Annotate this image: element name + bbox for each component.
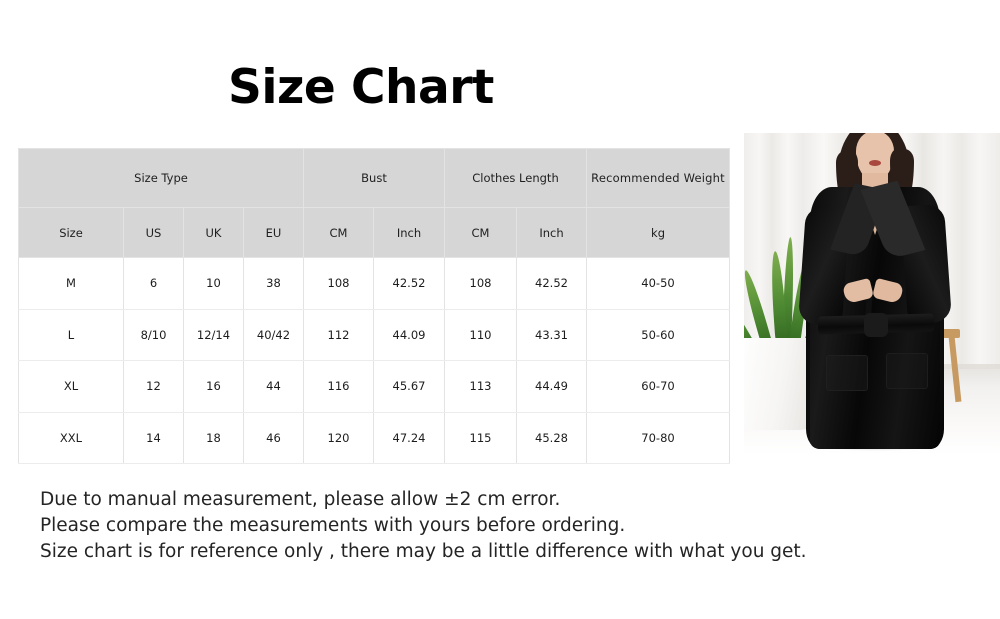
cell-weight-kg: 50-60 xyxy=(587,309,730,361)
size-chart-page: Size Chart Size Type Bust Clothes Length… xyxy=(0,0,1000,619)
col-header-length-inch: Inch xyxy=(517,208,587,258)
measurement-notes: Due to manual measurement, please allow … xyxy=(40,487,807,565)
col-header-length-cm: CM xyxy=(445,208,517,258)
unit-header-row: Size US UK EU CM Inch CM Inch kg xyxy=(19,208,730,258)
cell-us: 8/10 xyxy=(124,309,184,361)
cell-us: 14 xyxy=(124,412,184,464)
cell-size: L xyxy=(19,309,124,361)
cell-weight-kg: 70-80 xyxy=(587,412,730,464)
cell-length-cm: 110 xyxy=(445,309,517,361)
group-header-clothes-length: Clothes Length xyxy=(445,149,587,208)
robe-pocket-right xyxy=(886,353,928,389)
cell-weight-kg: 40-50 xyxy=(587,258,730,310)
cell-uk: 16 xyxy=(184,361,244,413)
group-header-recommended-weight: Recommended Weight xyxy=(587,149,730,208)
cell-bust-inch: 45.67 xyxy=(374,361,445,413)
product-photo xyxy=(744,133,1000,455)
cell-length-inch: 42.52 xyxy=(517,258,587,310)
group-header-bust: Bust xyxy=(304,149,445,208)
table-row: M 6 10 38 108 42.52 108 42.52 40-50 xyxy=(19,258,730,310)
col-header-weight-kg: kg xyxy=(587,208,730,258)
cell-uk: 12/14 xyxy=(184,309,244,361)
model-lips xyxy=(869,160,881,166)
cell-bust-cm: 112 xyxy=(304,309,374,361)
cell-length-cm: 115 xyxy=(445,412,517,464)
note-line-2: Please compare the measurements with you… xyxy=(40,513,807,539)
cell-size: XXL xyxy=(19,412,124,464)
table-row: XXL 14 18 46 120 47.24 115 45.28 70-80 xyxy=(19,412,730,464)
cell-bust-inch: 44.09 xyxy=(374,309,445,361)
cell-weight-kg: 60-70 xyxy=(587,361,730,413)
cell-uk: 18 xyxy=(184,412,244,464)
cell-us: 12 xyxy=(124,361,184,413)
cell-us: 6 xyxy=(124,258,184,310)
col-header-size: Size xyxy=(19,208,124,258)
cell-bust-cm: 120 xyxy=(304,412,374,464)
group-header-row: Size Type Bust Clothes Length Recommende… xyxy=(19,149,730,208)
col-header-us: US xyxy=(124,208,184,258)
cell-uk: 10 xyxy=(184,258,244,310)
note-line-1: Due to manual measurement, please allow … xyxy=(40,487,807,513)
cell-bust-inch: 42.52 xyxy=(374,258,445,310)
cell-length-cm: 108 xyxy=(445,258,517,310)
page-title: Size Chart xyxy=(228,64,494,111)
cell-length-inch: 43.31 xyxy=(517,309,587,361)
cell-eu: 46 xyxy=(244,412,304,464)
group-header-size-type: Size Type xyxy=(19,149,304,208)
note-line-3: Size chart is for reference only , there… xyxy=(40,539,807,565)
cell-length-inch: 44.49 xyxy=(517,361,587,413)
cell-bust-cm: 108 xyxy=(304,258,374,310)
cell-size: XL xyxy=(19,361,124,413)
col-header-uk: UK xyxy=(184,208,244,258)
col-header-bust-inch: Inch xyxy=(374,208,445,258)
robe-belt-knot xyxy=(864,313,888,337)
col-header-eu: EU xyxy=(244,208,304,258)
table-head: Size Type Bust Clothes Length Recommende… xyxy=(19,149,730,258)
cell-eu: 38 xyxy=(244,258,304,310)
cell-eu: 44 xyxy=(244,361,304,413)
cell-size: M xyxy=(19,258,124,310)
cell-bust-cm: 116 xyxy=(304,361,374,413)
cell-bust-inch: 47.24 xyxy=(374,412,445,464)
robe-pocket-left xyxy=(826,355,868,391)
table-row: XL 12 16 44 116 45.67 113 44.49 60-70 xyxy=(19,361,730,413)
table-body: M 6 10 38 108 42.52 108 42.52 40-50 L 8/… xyxy=(19,258,730,464)
table-row: L 8/10 12/14 40/42 112 44.09 110 43.31 5… xyxy=(19,309,730,361)
model-wearing-robe xyxy=(744,133,1000,455)
cell-length-cm: 113 xyxy=(445,361,517,413)
col-header-bust-cm: CM xyxy=(304,208,374,258)
size-chart-table: Size Type Bust Clothes Length Recommende… xyxy=(18,148,730,464)
cell-length-inch: 45.28 xyxy=(517,412,587,464)
cell-eu: 40/42 xyxy=(244,309,304,361)
